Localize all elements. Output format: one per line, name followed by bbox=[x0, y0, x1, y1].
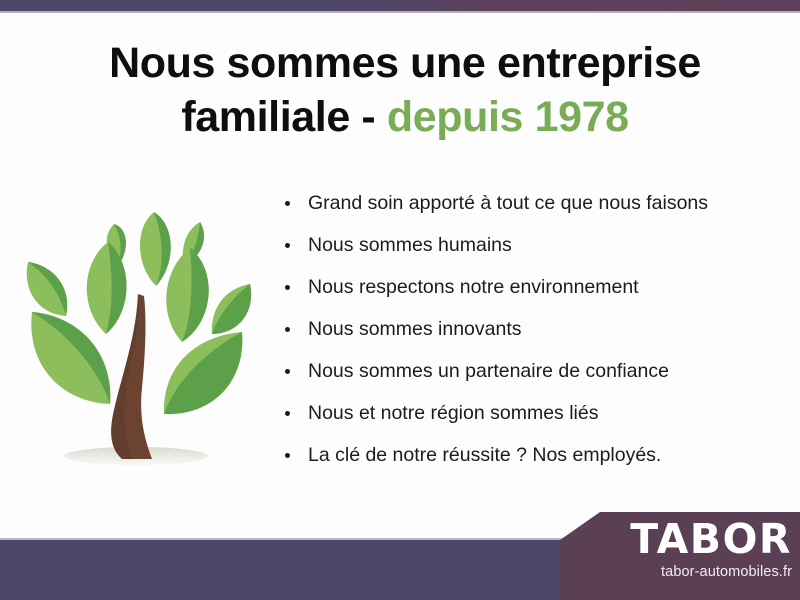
headline-line2-plain: familiale - bbox=[181, 93, 387, 141]
leaf-top-center bbox=[140, 212, 171, 286]
top-accent-hairline bbox=[0, 11, 800, 13]
list-item: Grand soin apporté à tout ce que nous fa… bbox=[283, 192, 783, 215]
bullet-dot-icon bbox=[285, 453, 290, 458]
headline-line1: Nous sommes une entreprise bbox=[109, 39, 701, 87]
brand-logo: TABOR bbox=[616, 517, 792, 561]
page-title: Nous sommes une entreprise familiale - d… bbox=[60, 36, 750, 144]
list-item-label: Nous sommes innovants bbox=[308, 318, 522, 340]
top-accent-bar bbox=[0, 0, 800, 11]
list-item-label: Nous sommes humains bbox=[308, 234, 512, 256]
bullet-dot-icon bbox=[285, 243, 290, 248]
brand-website: tabor-automobiles.fr bbox=[600, 563, 792, 581]
bullet-dot-icon bbox=[285, 201, 290, 206]
value-list: Grand soin apporté à tout ce que nous fa… bbox=[283, 192, 783, 467]
bullet-dot-icon bbox=[285, 327, 290, 332]
leaf-far-right bbox=[212, 284, 251, 334]
list-item-label: La clé de notre réussite ? Nos employés. bbox=[308, 444, 661, 466]
headline-line2-accent: depuis 1978 bbox=[387, 93, 629, 141]
bullet-dot-icon bbox=[285, 369, 290, 374]
list-item: Nous respectons notre environnement bbox=[283, 276, 783, 299]
list-item-label: Nous respectons notre environnement bbox=[308, 276, 639, 298]
list-item-label: Nous et notre région sommes liés bbox=[308, 402, 598, 424]
leaf-lower-left bbox=[31, 312, 110, 404]
leaf-lower-right bbox=[164, 332, 242, 414]
bullet-dot-icon bbox=[285, 411, 290, 416]
slide-canvas: Nous sommes une entreprise familiale - d… bbox=[0, 0, 800, 600]
bullet-dot-icon bbox=[285, 285, 290, 290]
list-item: Nous sommes innovants bbox=[283, 318, 783, 341]
list-item: Nous sommes humains bbox=[283, 234, 783, 257]
list-item-label: Nous sommes un partenaire de confiance bbox=[308, 360, 669, 382]
leaf-mid-right bbox=[166, 248, 208, 342]
list-item: La clé de notre réussite ? Nos employés. bbox=[283, 444, 783, 467]
list-item-label: Grand soin apporté à tout ce que nous fa… bbox=[308, 192, 708, 214]
tree-illustration bbox=[18, 188, 268, 493]
leaf-far-left bbox=[27, 262, 68, 316]
list-item: Nous et notre région sommes liés bbox=[283, 402, 783, 425]
list-item: Nous sommes un partenaire de confiance bbox=[283, 360, 783, 383]
